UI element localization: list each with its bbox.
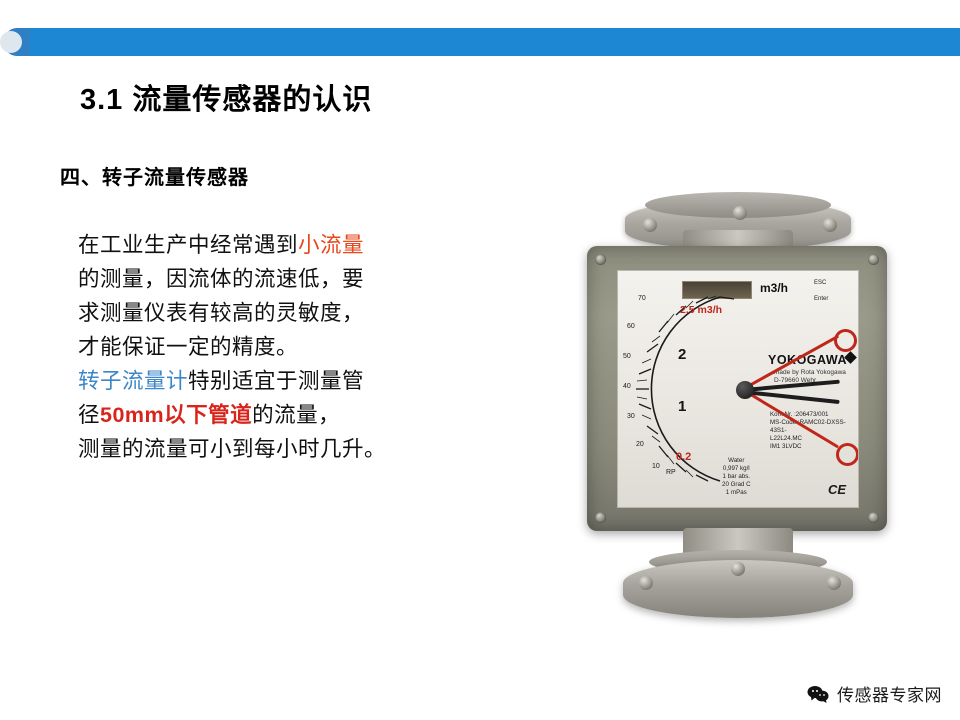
limit-knob-lower[interactable] [836, 443, 859, 466]
enter-label: Enter [814, 295, 828, 303]
flange-bolt [823, 218, 837, 232]
section-subtitle: 四、转子流量传感器 [60, 161, 249, 190]
tick-number-20: 20 [636, 441, 644, 448]
dial-major-1: 1 [678, 398, 686, 415]
dial-face: m3/h ESC Enter [617, 270, 859, 508]
housing-screw [868, 512, 879, 523]
keypad-labels: ESC Enter [814, 279, 828, 303]
paragraph-line-5: 转子流量计特别适宜于测量管 [78, 364, 468, 398]
tick-number-40: 40 [623, 383, 631, 390]
paragraph-line-6-pre: 径 [78, 403, 100, 427]
paragraph-line-7: 测量的流量可小到每小时几升。 [78, 432, 468, 466]
rp-label: RP [666, 469, 676, 476]
spec-line-3: L22L24.MC [770, 435, 858, 443]
dial-major-02: 0.2 [676, 451, 691, 463]
paragraph-line-4: 才能保证一定的精度。 [78, 330, 468, 364]
footer-text: 传感器专家网 [837, 681, 942, 706]
highlight-rotameter: 转子流量计 [78, 369, 188, 393]
wechat-icon [807, 685, 829, 703]
limit-knob-upper[interactable] [834, 329, 857, 352]
highlight-small-flow: 小流量 [298, 233, 364, 257]
range-label: 2.5 m3/h [680, 304, 722, 316]
needle-hub [736, 381, 754, 399]
flange-bolt [731, 562, 745, 576]
header-bar [22, 28, 960, 56]
housing-screw [595, 254, 606, 265]
tick-number-30: 30 [627, 413, 635, 420]
footer-bar: 传感器专家网 [0, 662, 960, 720]
footer-watermark: 传感器专家网 [807, 681, 942, 706]
header-bar-dot [0, 31, 22, 53]
fluid-line-3: 1 bar abs. [722, 473, 751, 481]
paragraph-line-6: 径50mm以下管道的流量， [78, 398, 468, 432]
tick-number-10: 10 [652, 463, 660, 470]
dial-major-2: 2 [678, 346, 686, 363]
body-paragraph: 在工业生产中经常遇到小流量 的测量，因流体的流速低，要 求测量仪表有较高的灵敏度… [78, 228, 468, 466]
flow-meter-photo: m3/h ESC Enter [565, 178, 910, 643]
fluid-line-2: 0,997 kg/l [722, 465, 751, 473]
fluid-line-4: 20 Grad C [722, 481, 751, 489]
brand-name: YOKOGAWA [768, 353, 847, 367]
flange-bolt [639, 576, 653, 590]
paragraph-line-3: 求测量仪表有较高的灵敏度， [78, 296, 468, 330]
meter-housing: m3/h ESC Enter [587, 246, 887, 531]
flange-bolt [827, 576, 841, 590]
paragraph-line-2: 的测量，因流体的流速低，要 [78, 262, 468, 296]
esc-label: ESC [814, 279, 828, 287]
fluid-data-block: Water 0,997 kg/l 1 bar abs. 20 Grad C 1 … [722, 457, 751, 497]
paragraph-line-1-plain: 在工业生产中经常遇到 [78, 233, 298, 257]
highlight-50mm: 50mm以下管道 [100, 403, 252, 427]
flange-bolt [733, 206, 747, 220]
flange-bolt [643, 218, 657, 232]
fluid-line-1: Water [722, 457, 751, 465]
page-title: 3.1 流量传感器的认识 [80, 76, 372, 118]
tick-number-60: 60 [627, 323, 635, 330]
ce-mark: CE [828, 482, 846, 497]
paragraph-line-6-post: 的流量， [252, 403, 340, 427]
brand-sub-line-1: made by Rota Yokogawa [774, 369, 846, 377]
paragraph-line-5-plain: 特别适宜于测量管 [188, 369, 364, 393]
slide-root: 3.1 流量传感器的认识 四、转子流量传感器 在工业生产中经常遇到小流量 的测量… [0, 0, 960, 720]
housing-screw [595, 512, 606, 523]
paragraph-line-1: 在工业生产中经常遇到小流量 [78, 228, 468, 262]
tick-number-70: 70 [638, 295, 646, 302]
tick-number-50: 50 [623, 353, 631, 360]
unit-label: m3/h [760, 281, 788, 295]
fluid-line-5: 1 mPas [722, 489, 751, 497]
housing-screw [868, 254, 879, 265]
